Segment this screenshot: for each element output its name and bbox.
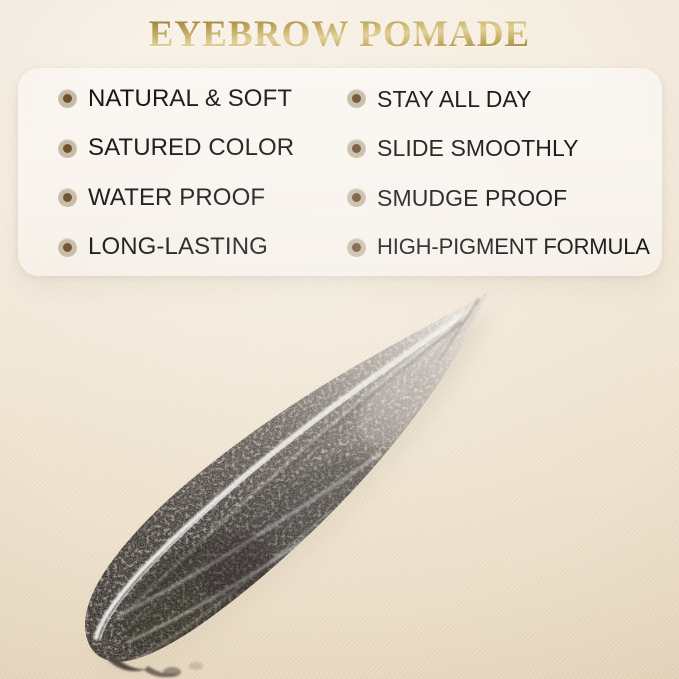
feature-item-slide-smoothly: SLIDE SMOOTHLY [332,135,662,161]
bullet-icon [347,188,366,207]
feature-item-long-lasting: LONG-LASTING [18,234,332,260]
bullet-icon [58,188,77,207]
page-title: EYEBROW POMADE [0,12,679,58]
product-feature-poster: EYEBROW POMADE NATURAL & SOFT STAY ALL D… [0,0,679,679]
feature-label: SMUDGE PROOF [377,185,567,211]
feature-label: STAY ALL DAY [377,86,532,112]
bullet-icon [58,89,77,108]
feature-label: WATER PROOF [88,185,265,211]
bullet-icon [347,89,366,108]
feature-item-stay-all-day: STAY ALL DAY [332,86,662,112]
swatch-shading [99,323,491,679]
eyebrow-pomade-swatch [0,282,679,679]
product-swatch-area [0,282,679,679]
feature-item-natural-and-soft: NATURAL & SOFT [18,86,332,112]
features-card: NATURAL & SOFT STAY ALL DAY SATURED COLO… [18,68,662,276]
bullet-icon [347,238,366,257]
feature-label: SATURED COLOR [88,135,294,161]
feature-item-high-pigment-formula: HIGH-PIGMENT FORMULA [332,234,662,260]
feature-label: HIGH-PIGMENT FORMULA [377,234,650,260]
features-grid: NATURAL & SOFT STAY ALL DAY SATURED COLO… [18,68,662,276]
bullet-icon [347,139,366,158]
bullet-icon [58,139,77,158]
swatch-body [0,282,679,679]
bullet-icon [58,238,77,257]
feature-item-satured-color: SATURED COLOR [18,135,332,161]
feature-label: LONG-LASTING [88,234,268,260]
feature-item-water-proof: WATER PROOF [18,185,332,211]
feature-item-smudge-proof: SMUDGE PROOF [332,185,662,211]
feature-label: NATURAL & SOFT [88,86,292,112]
feature-label: SLIDE SMOOTHLY [377,135,579,161]
